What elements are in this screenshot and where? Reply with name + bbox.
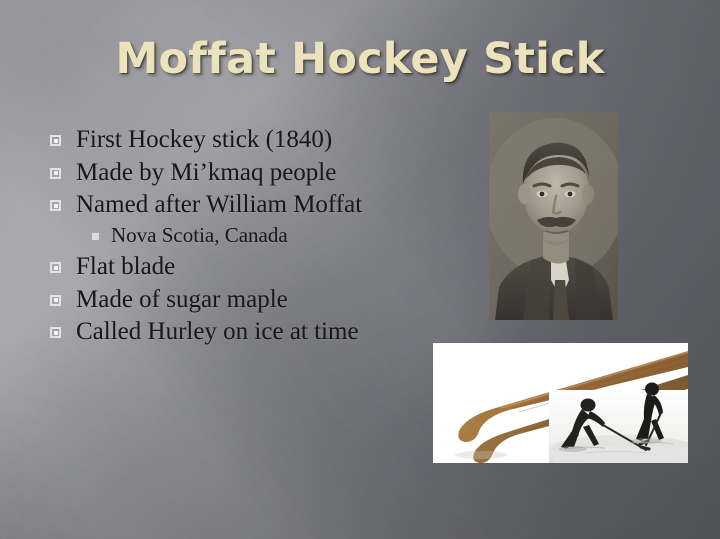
bullet-list: First Hockey stick (1840) Made by Mi’kma… <box>50 126 418 351</box>
portrait-photo-william-moffat <box>489 112 618 320</box>
list-item: Made by Mi’kmaq people <box>50 159 418 188</box>
list-item-label: Made of sugar maple <box>76 286 288 315</box>
list-item: Named after William Moffat <box>50 191 418 220</box>
list-item-label: Made by Mi’kmaq people <box>76 159 336 188</box>
sub-list-item-label: Nova Scotia, Canada <box>111 224 288 248</box>
list-item: Called Hurley on ice at time <box>50 318 418 347</box>
list-item-label: Flat blade <box>76 253 175 282</box>
bullet-square-icon <box>50 327 61 338</box>
bullet-square-icon <box>50 295 61 306</box>
bullet-square-icon <box>50 262 61 273</box>
list-item: First Hockey stick (1840) <box>50 126 418 155</box>
slide-title: Moffat Hockey Stick <box>0 34 720 84</box>
list-item-label: Called Hurley on ice at time <box>76 318 359 347</box>
list-item: Flat blade <box>50 253 418 282</box>
presentation-slide: Moffat Hockey Stick First Hockey stick (… <box>0 0 720 539</box>
bullet-square-icon <box>50 168 61 179</box>
list-item: Made of sugar maple <box>50 286 418 315</box>
hockey-sticks-photo <box>433 343 688 463</box>
sub-list-item: Nova Scotia, Canada <box>50 224 418 248</box>
list-item-label: Named after William Moffat <box>76 191 362 220</box>
list-item-label: First Hockey stick (1840) <box>76 126 332 155</box>
bullet-small-square-icon <box>92 233 99 240</box>
bullet-square-icon <box>50 200 61 211</box>
bullet-square-icon <box>50 135 61 146</box>
